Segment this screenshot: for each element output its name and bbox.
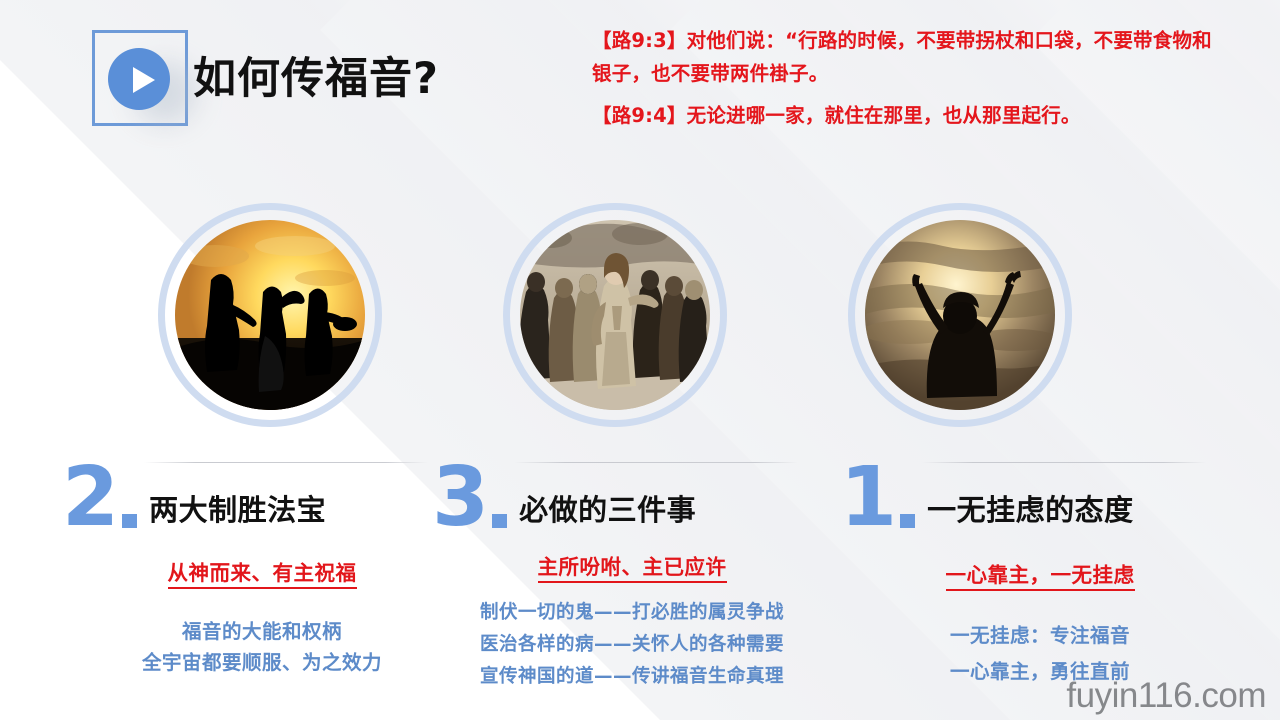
column-divider <box>514 462 798 463</box>
circle-ring <box>158 203 382 427</box>
column-divider <box>144 462 428 463</box>
column-heading: 2 两大制胜法宝 <box>62 464 326 531</box>
body-line: 制伏一切的鬼——打必胜的属灵争战 <box>432 597 832 629</box>
body-line: 全宇宙都要顺服、为之效力 <box>62 647 462 678</box>
column-number: 3 <box>432 464 487 531</box>
number-dot <box>900 514 915 528</box>
column-number: 1 <box>840 464 895 531</box>
column-title: 必做的三件事 <box>519 487 696 529</box>
column-number: 2 <box>62 464 117 531</box>
number-dot <box>492 514 507 528</box>
column-title: 两大制胜法宝 <box>149 487 326 529</box>
body-line: 福音的大能和权柄 <box>62 616 462 647</box>
circle-image-silhouettes-sunset <box>158 203 382 427</box>
column-body-lines: 福音的大能和权柄 全宇宙都要顺服、为之效力 <box>62 616 462 678</box>
page-title: 如何传福音? <box>193 44 439 106</box>
circle-ring <box>503 203 727 427</box>
body-line: 医治各样的病——关怀人的各种需要 <box>432 629 832 661</box>
circle-image-raised-arms-sky <box>848 203 1072 427</box>
column-red-subtitle: 一心靠主，一无挂虑 <box>840 558 1240 588</box>
column-heading: 1 一无挂虑的态度 <box>840 464 1134 531</box>
play-triangle-icon <box>133 67 155 93</box>
play-button-icon[interactable] <box>92 30 188 126</box>
column-red-subtitle: 主所吩咐、主已应许 <box>432 550 832 580</box>
body-line: 宣传神国的道——传讲福音生命真理 <box>432 661 832 693</box>
column-divider <box>922 462 1206 463</box>
circle-image-jesus-disciples <box>503 203 727 427</box>
number-dot <box>122 514 137 528</box>
slide-root: 如何传福音? 【路9:3】对他们说：“行路的时候，不要带拐杖和口袋，不要带食物和… <box>0 0 1280 720</box>
scripture-block: 【路9:3】对他们说：“行路的时候，不要带拐杖和口袋，不要带食物和银子，也不要带… <box>592 24 1220 132</box>
column-body-lines: 制伏一切的鬼——打必胜的属灵争战 医治各样的病——关怀人的各种需要 宣传神国的道… <box>432 597 832 693</box>
column-title: 一无挂虑的态度 <box>927 487 1134 529</box>
watermark: fuyin116.com <box>1066 676 1266 716</box>
circle-ring <box>848 203 1072 427</box>
column-heading: 3 必做的三件事 <box>432 464 696 531</box>
body-line: 一无挂虑：专注福音 <box>840 618 1240 654</box>
column-red-subtitle: 从神而来、有主祝福 <box>62 556 462 586</box>
play-circle <box>108 48 170 110</box>
scripture-line-1: 【路9:3】对他们说：“行路的时候，不要带拐杖和口袋，不要带食物和银子，也不要带… <box>592 24 1220 90</box>
scripture-line-2: 【路9:4】无论进哪一家，就住在那里，也从那里起行。 <box>592 99 1220 132</box>
